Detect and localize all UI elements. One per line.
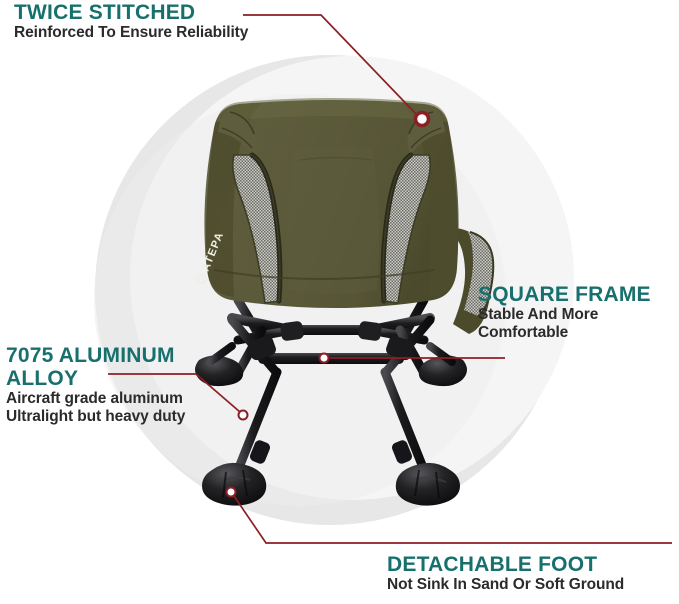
- callout-aluminum-alloy: 7075 ALUMINUM ALLOY Aircraft grade alumi…: [6, 344, 246, 426]
- callout-subtitle-twice-stitched: Reinforced To Ensure Reliability: [14, 24, 248, 42]
- marker-detachable: [227, 488, 236, 497]
- callout-title-aluminum-line1: 7075 ALUMINUM: [6, 344, 246, 367]
- callout-twice-stitched: TWICE STITCHED Reinforced To Ensure Reli…: [14, 1, 248, 42]
- callout-subtitle-detachable-foot: Not Sink In Sand Or Soft Ground: [387, 576, 624, 594]
- callout-subtitle-aluminum-line1: Aircraft grade aluminum: [6, 390, 246, 408]
- callout-subtitle-square-frame-line2: Comfortable: [478, 324, 651, 342]
- callout-title-aluminum-line2: ALLOY: [6, 367, 246, 390]
- callout-title-detachable-foot: DETACHABLE FOOT: [387, 553, 624, 576]
- marker-twice-stitched: [416, 113, 429, 126]
- callout-detachable-foot: DETACHABLE FOOT Not Sink In Sand Or Soft…: [387, 553, 624, 594]
- callout-title-twice-stitched: TWICE STITCHED: [14, 1, 248, 24]
- callout-square-frame: SQUARE FRAME Stable And More Comfortable: [478, 283, 651, 342]
- infographic-canvas: ATEPA TWICE STITCHED Reinforced To Ensur…: [0, 0, 679, 604]
- marker-square-frame: [320, 354, 329, 363]
- callout-subtitle-square-frame-line1: Stable And More: [478, 306, 651, 324]
- callout-subtitle-aluminum-line2: Ultralight but heavy duty: [6, 408, 246, 426]
- callout-title-square-frame: SQUARE FRAME: [478, 283, 651, 306]
